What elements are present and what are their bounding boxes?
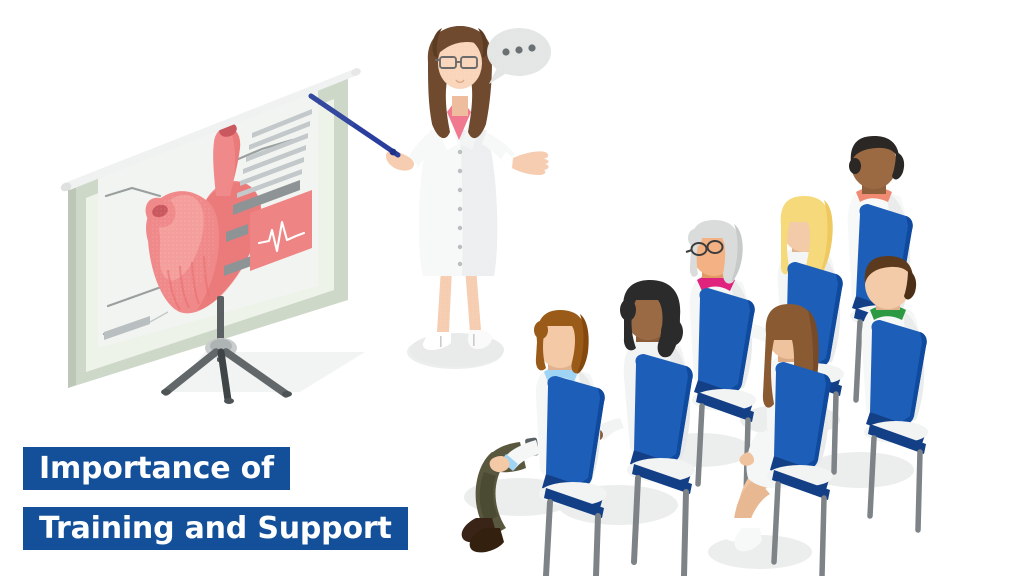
screen-frame-edge	[68, 187, 76, 388]
pointer-grip	[390, 149, 397, 156]
title-banner: Importance of Training and Support	[23, 447, 408, 550]
presenter-neck	[452, 96, 468, 116]
illustration-canvas: Importance of Training and Support	[0, 0, 1024, 576]
title-line-2: Training and Support	[23, 507, 408, 550]
title-line-1: Importance of	[23, 447, 290, 490]
